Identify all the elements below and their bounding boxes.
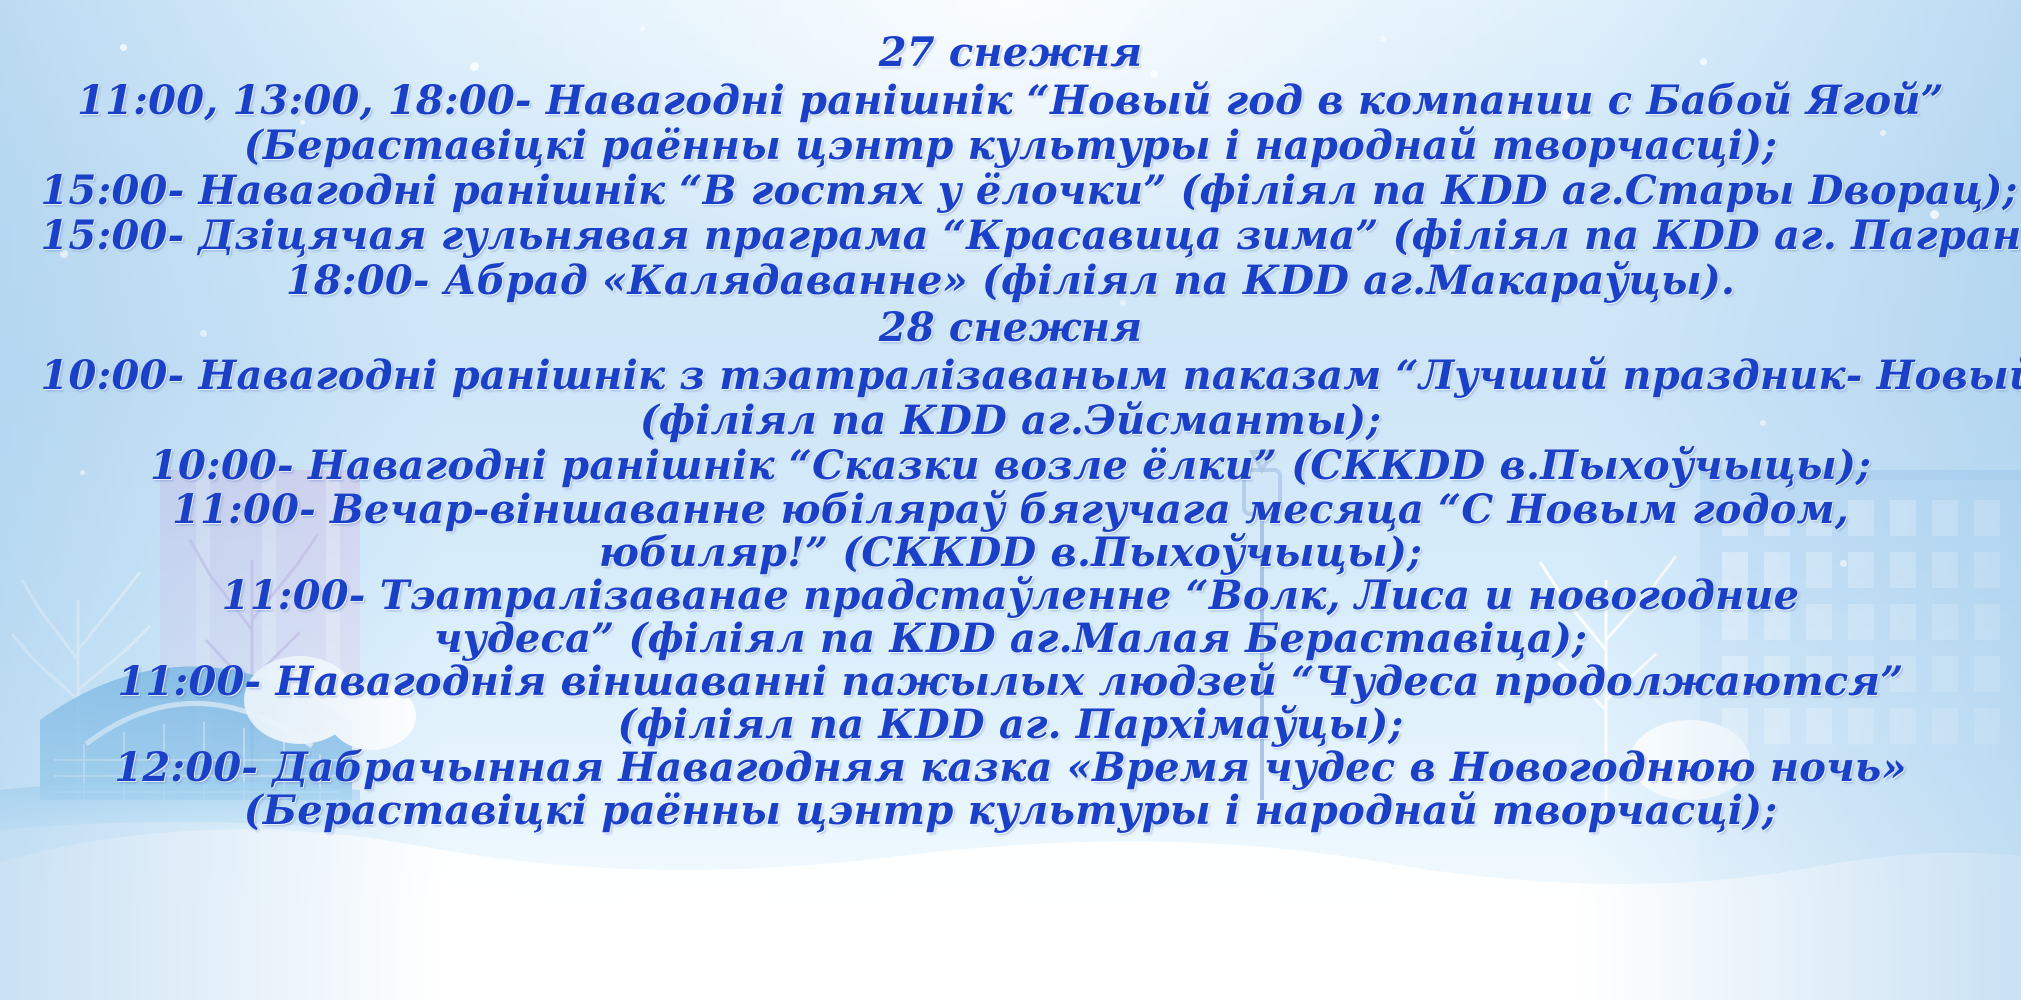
event-line-27-3: 15:00- Дзіцячая гульнявая праграма “Крас… — [41, 213, 1981, 258]
event-line-28-1-venue: (філіял па КDD аг.Эйсманты); — [41, 398, 1981, 443]
event-line-27-4: 18:00- Абрад «Калядаванне» (філіял па КD… — [41, 258, 1981, 303]
event-line-28-4: 11:00- Тэатралізаванае прадстаўленне “Во… — [141, 574, 1881, 660]
event-line-28-3: 11:00- Вечар-віншаванне юбіляраў бягучаг… — [101, 488, 1921, 574]
event-line-28-6: 12:00- Дабрачынная Навагодняя казка «Вре… — [71, 746, 1951, 832]
event-line-28-2: 10:00- Навагодні ранішнік “Сказки возле … — [41, 443, 1981, 488]
section-heading-28: 28 снежня — [41, 303, 1981, 353]
event-line-27-1: 11:00, 13:00, 18:00- Навагодні ранішнік … — [41, 78, 1981, 123]
section-heading-27: 27 снежня — [41, 28, 1981, 78]
event-line-28-1: 10:00- Навагодні ранішнік з тэатралізава… — [41, 353, 1981, 398]
event-line-27-1-venue: (Бераставіцкі раённы цэнтр культуры і на… — [41, 123, 1981, 168]
program-text-block: 27 снежня 11:00, 13:00, 18:00- Навагодні… — [0, 0, 2021, 1000]
event-line-28-5: 11:00- Навагоднія віншаванні пажылых люд… — [101, 660, 1921, 746]
winter-program-poster: 27 снежня 11:00, 13:00, 18:00- Навагодні… — [0, 0, 2021, 1000]
event-line-27-2: 15:00- Навагодні ранішнік “В гостях у ёл… — [41, 168, 1981, 213]
